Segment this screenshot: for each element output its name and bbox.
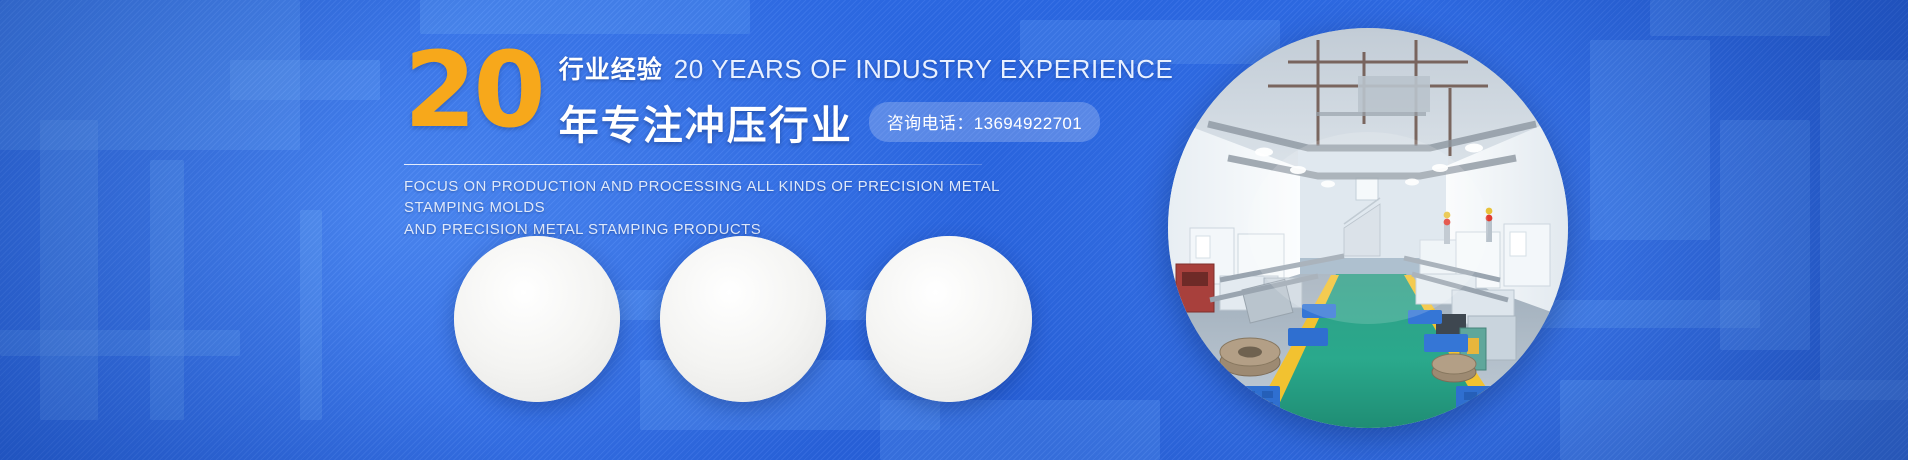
years-number: 20 <box>404 46 543 135</box>
product-circle-terminal-pins[interactable] <box>866 236 1032 402</box>
product-circle-usb-connectors[interactable] <box>454 236 620 402</box>
tagline-cn: 年专注冲压行业 <box>559 93 853 151</box>
industry-experience-label-cn: 行业经验 <box>559 50 663 86</box>
subtitle-line-1: FOCUS ON PRODUCTION AND PROCESSING ALL K… <box>404 176 1024 219</box>
factory-workshop-illustration <box>1168 28 1568 428</box>
headline-divider <box>404 164 982 165</box>
headline-block: 20 行业经验 20 YEARS OF INDUSTRY EXPERIENCE … <box>404 42 1024 240</box>
product-circle-stamping-dies[interactable] <box>660 236 826 402</box>
industry-experience-label-en: 20 YEARS OF INDUSTRY EXPERIENCE <box>674 54 1174 85</box>
headline-bottom-row: 年专注冲压行业 咨询电话：13694922701 <box>559 93 1174 151</box>
headline-row: 20 行业经验 20 YEARS OF INDUSTRY EXPERIENCE … <box>404 42 1024 151</box>
promotional-banner: 20 行业经验 20 YEARS OF INDUSTRY EXPERIENCE … <box>0 0 1908 460</box>
headline-top-row: 行业经验 20 YEARS OF INDUSTRY EXPERIENCE <box>559 50 1174 86</box>
phone-badge[interactable]: 咨询电话：13694922701 <box>869 102 1100 142</box>
subtitle-block: FOCUS ON PRODUCTION AND PROCESSING ALL K… <box>404 176 1024 240</box>
factory-photo-circle[interactable] <box>1168 28 1568 428</box>
